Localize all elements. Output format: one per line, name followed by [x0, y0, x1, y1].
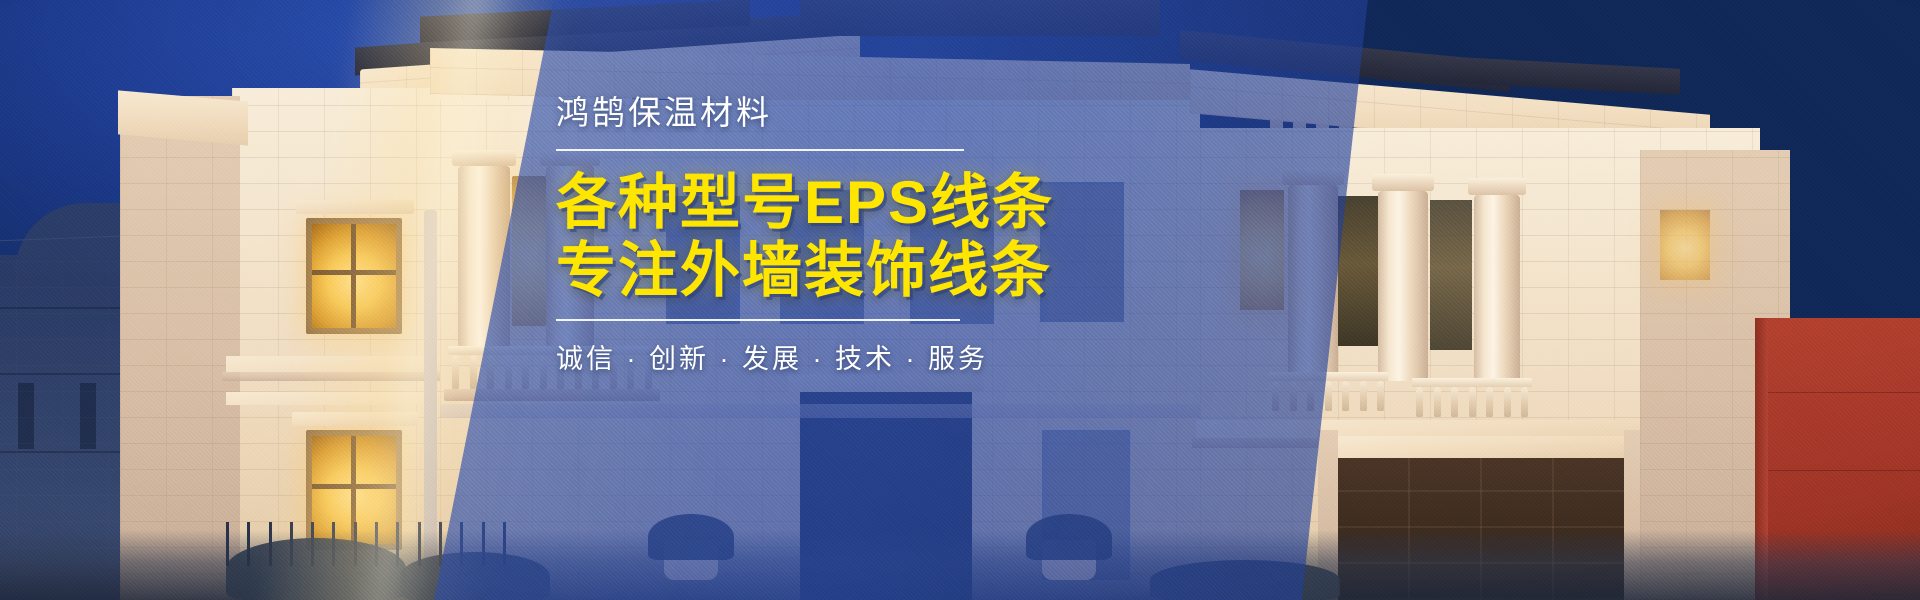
divider-bottom — [556, 319, 960, 321]
promo-banner: 鸿鹄保温材料 各种型号EPS线条 专注外墙装饰线条 诚信 · 创新 · 发展 ·… — [0, 0, 1920, 600]
window-lintel — [292, 412, 418, 426]
window-lintel — [296, 200, 414, 214]
right-wing-roof-2 — [1420, 55, 1680, 95]
banner-copy: 鸿鹄保温材料 各种型号EPS线条 专注外墙装饰线条 诚信 · 创新 · 发展 ·… — [556, 92, 1256, 376]
tagline: 诚信 · 创新 · 发展 · 技术 · 服务 — [556, 337, 1256, 376]
column-capital — [1372, 174, 1434, 191]
lit-window — [1660, 210, 1710, 280]
column — [1474, 195, 1520, 383]
column — [1378, 191, 1428, 381]
recessed-door — [1338, 196, 1378, 346]
brand-name: 鸿鹄保温材料 — [556, 92, 1256, 133]
column-capital — [1468, 178, 1526, 195]
recessed-door — [1430, 200, 1472, 350]
balcony-rail — [1412, 378, 1532, 387]
divider-top — [556, 149, 964, 151]
column-capital — [452, 150, 516, 166]
lit-window — [312, 224, 396, 328]
headline-line-1: 各种型号EPS线条 — [556, 169, 1256, 237]
headline-line-2: 专注外墙装饰线条 — [556, 237, 1256, 305]
left-wing-return-wall — [120, 96, 240, 600]
garage-lintel — [1330, 436, 1630, 458]
balustrade — [1416, 387, 1528, 417]
